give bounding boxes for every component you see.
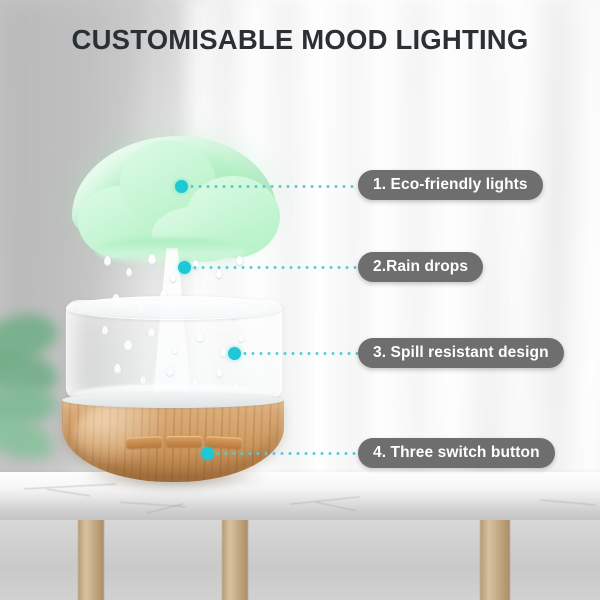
callout-label-1[interactable]: 1. Eco-friendly lights xyxy=(358,170,543,200)
callout-dot-3 xyxy=(228,347,241,360)
callout-label-4[interactable]: 4. Three switch button xyxy=(358,438,555,468)
callout-dot-2 xyxy=(178,261,191,274)
switch-button-3[interactable] xyxy=(206,436,243,449)
callout-line-1 xyxy=(188,185,358,188)
callout-dot-1 xyxy=(175,180,188,193)
product-infographic: CUSTOMISABLE MOOD LIGHTING 1. Eco-friend… xyxy=(0,0,600,600)
callout-label-3[interactable]: 3. Spill resistant design xyxy=(358,338,564,368)
callout-line-3 xyxy=(241,352,358,355)
switch-button-1[interactable] xyxy=(126,436,163,449)
base-collar xyxy=(62,392,284,408)
callout-dot-4 xyxy=(201,447,214,460)
bowl-inner-rim xyxy=(78,302,268,318)
callout-label-2[interactable]: 2.Rain drops xyxy=(358,252,483,282)
callout-line-4 xyxy=(214,452,358,455)
switch-button-2[interactable] xyxy=(166,436,202,447)
callout-line-2 xyxy=(191,266,358,269)
rain-cloud-humidifier xyxy=(0,0,600,600)
page-title: CUSTOMISABLE MOOD LIGHTING xyxy=(0,24,600,56)
wood-base-highlight xyxy=(74,400,170,470)
